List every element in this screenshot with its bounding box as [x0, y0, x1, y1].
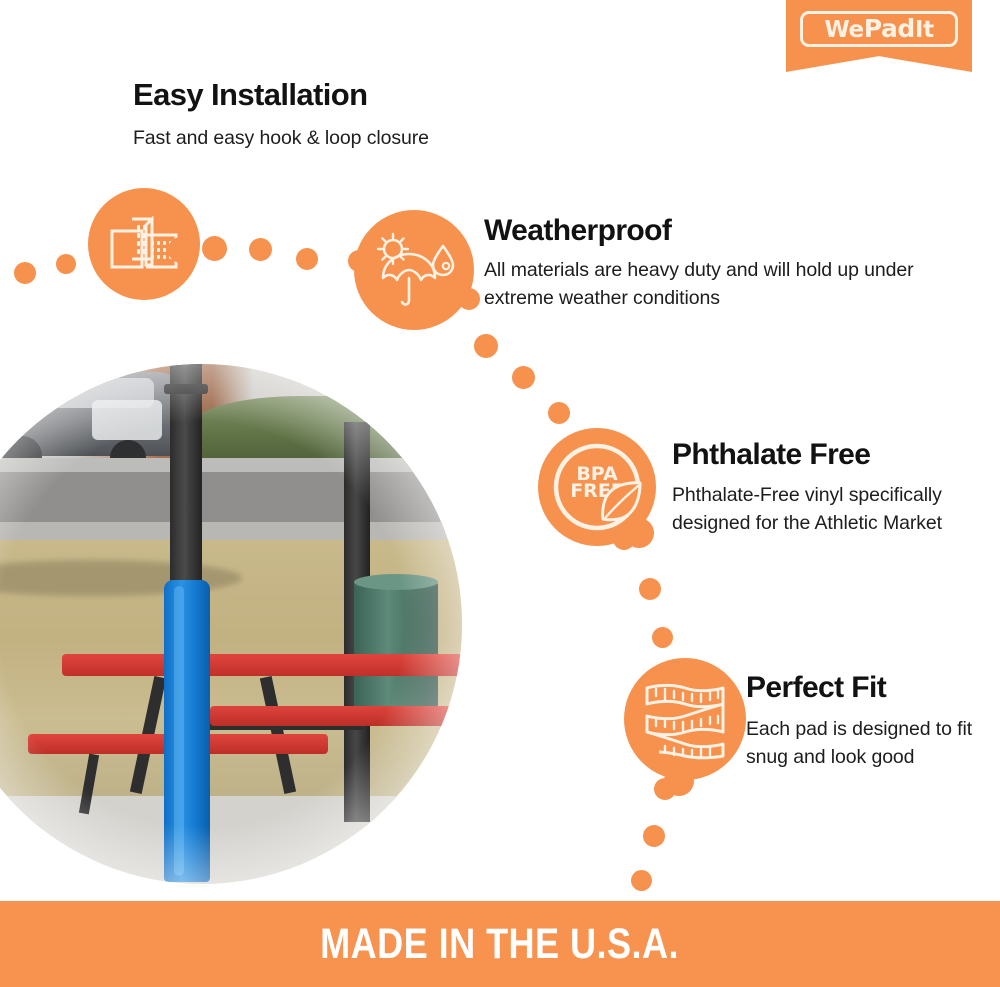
feature-body-perfect-fit: Each pad is designed to fit snug and loo…	[746, 716, 981, 771]
feature-title-easy-installation: Easy Installation	[133, 79, 367, 112]
weatherproof-icon-circle	[354, 210, 474, 330]
circle-lobe	[458, 288, 480, 310]
trail-dot	[474, 334, 498, 358]
feature-title-weatherproof: Weatherproof	[484, 215, 671, 247]
feature-title-phthalate-free: Phthalate Free	[672, 439, 870, 471]
product-photo	[0, 364, 462, 884]
trail-dot	[631, 870, 652, 891]
logo-word-it: It	[915, 17, 934, 43]
made-in-usa-banner: MADE IN THE U.S.A.	[0, 901, 1000, 987]
feature-body-phthalate-free: Phthalate-Free vinyl specifically design…	[672, 482, 942, 537]
trail-dot	[512, 366, 535, 389]
feature-title-perfect-fit: Perfect Fit	[746, 672, 886, 704]
logo-word-we: We	[824, 17, 863, 43]
trail-dot	[652, 627, 673, 648]
made-in-usa-text: MADE IN THE U.S.A.	[321, 920, 680, 969]
logo-word-pad: Pad	[864, 14, 915, 43]
bpa-free-icon-circle: BPA FREE	[538, 428, 656, 546]
trail-dot	[296, 248, 318, 270]
photo-edge-vignette	[0, 364, 462, 884]
measuring-tape-icon	[639, 676, 731, 762]
trail-dot	[548, 402, 570, 424]
perfect-fit-icon-circle	[624, 658, 746, 780]
product-feature-infographic: WePadIt Easy Installation Fast and easy …	[0, 0, 1000, 987]
feature-body-weatherproof: All materials are heavy duty and will ho…	[484, 257, 914, 312]
sun-umbrella-raindrop-icon	[371, 230, 457, 310]
trail-dot	[202, 236, 227, 261]
trail-dot	[643, 825, 665, 847]
trail-dot	[639, 578, 661, 600]
leaf-icon	[598, 480, 644, 524]
brand-logo[interactable]: WePadIt	[786, 0, 972, 72]
trail-dot	[14, 262, 36, 284]
trail-dot	[56, 254, 76, 274]
logo-wordmark: WePadIt	[824, 16, 933, 42]
logo-outline: WePadIt	[800, 11, 958, 47]
trail-dot	[249, 238, 272, 261]
trail-dot	[168, 237, 194, 263]
trail-dot	[654, 778, 676, 800]
trail-dot	[613, 528, 635, 550]
feature-body-easy-installation: Fast and easy hook & loop closure	[133, 125, 553, 153]
circle-lobe	[348, 250, 370, 272]
